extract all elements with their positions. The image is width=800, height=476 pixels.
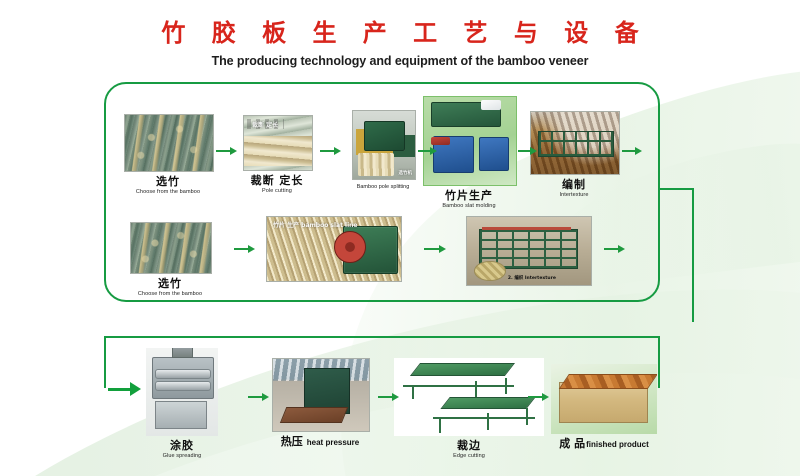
cutter-unit-1-leg-c [505, 378, 507, 394]
splitting-machine-image [353, 111, 415, 179]
step-label: 成 品finished product [551, 437, 657, 452]
step-finished-product[interactable]: 成 品finished product [551, 364, 657, 452]
step-bamboo-pole-splitting[interactable]: 选竹机 Bamboo pole splitting [352, 110, 414, 192]
thumbnail-heat-pressure [272, 358, 370, 432]
cutter-unit-2-leg-a [439, 417, 441, 433]
step-label-en: Choose from the bamboo [124, 188, 212, 196]
step-choose-bamboo-1[interactable]: 选竹 Choose from the bamboo [124, 114, 212, 196]
flow-arrow-9-entry [108, 382, 141, 396]
cutter-unit-2-table [440, 397, 535, 409]
step-label-en: Bamboo slat molding [423, 202, 515, 210]
step-label-cn: 编制 [530, 178, 618, 191]
step-label-en: Pole cutting [243, 187, 311, 195]
thumbnail-edge-cutting [394, 358, 544, 436]
flow-arrow-4 [518, 147, 537, 155]
step-label-cn: 成 品 [559, 437, 585, 450]
process-frame-lower-top [104, 336, 660, 338]
weaving-shed-image [531, 112, 619, 174]
step-choose-bamboo-2[interactable]: 选竹 Choose from the bamboo [130, 222, 210, 298]
flow-arrow-7 [424, 245, 446, 253]
step-label-en: Intertexture [530, 191, 618, 199]
machine-blue-right [479, 137, 509, 171]
step-label-en: Bamboo pole splitting [352, 183, 414, 192]
machine-red-feeder [431, 137, 449, 146]
thumbnail-watermark: 竹片 生产 bamboo slat line [273, 220, 358, 229]
machine-control-panel [481, 100, 501, 111]
step-label-cn: 裁边 [394, 439, 544, 452]
step-label-en: Glue spreading [146, 452, 218, 460]
poster-header: 竹 胶 板 生 产 工 艺 与 设 备 The producing techno… [0, 18, 800, 68]
step-label-cn: 竹片生产 [423, 189, 515, 202]
glue-roller-lower [155, 381, 212, 391]
flow-arrow-1 [216, 147, 237, 155]
flow-arrow-3 [418, 147, 437, 155]
board-top-face [559, 374, 657, 389]
cutter-unit-1-leg-a [412, 385, 414, 399]
page-title-chinese: 竹 胶 板 生 产 工 艺 与 设 备 [0, 18, 800, 48]
thumbnail-intertexture-2: 2. 编织 Intertexture [466, 216, 592, 286]
bamboo-poles-image [125, 115, 213, 171]
cutter-unit-2-leg-b [487, 413, 489, 430]
thumbnail-choose-bamboo-2 [130, 222, 212, 274]
thumbnail-watermark: 裁断 定长 [252, 120, 278, 129]
step-pole-cutting[interactable]: 裁断 定长 裁断 定长 Pole cutting [243, 115, 311, 195]
frame-connector-horizontal [659, 188, 694, 190]
step-label-cn: 选竹 [124, 175, 212, 188]
flow-arrow-2 [320, 147, 341, 155]
process-frame-lower-left [104, 336, 106, 388]
step-label-en: Edge cutting [394, 452, 544, 460]
step-bamboo-strip-production[interactable]: 竹片 生产 bamboo slat line [266, 216, 400, 282]
thumbnail-watermark: 2. 编织 Intertexture [508, 275, 556, 281]
edge-cutting-machines-image [394, 358, 544, 436]
step-label-en: heat pressure [303, 438, 359, 447]
cutter-unit-1-leg-b [475, 381, 477, 397]
step-label-cn: 涂胶 [146, 439, 218, 452]
cutter-unit-2-leg-c [526, 408, 528, 425]
machine-flywheel [334, 231, 366, 263]
thumbnail-bamboo-slat-molding [423, 96, 517, 186]
flow-arrow-10 [248, 393, 269, 401]
glue-spreader-image [146, 348, 218, 436]
thumbnail-choose-bamboo-1 [124, 114, 214, 172]
flow-arrow-5 [622, 147, 642, 155]
glue-roller-upper [155, 369, 212, 379]
cutter-unit-2-rail [433, 417, 535, 419]
step-label: 热压heat pressure [272, 435, 368, 450]
step-label-cn: 裁断 定长 [243, 174, 311, 187]
finished-board-image [551, 364, 657, 434]
step-label-en: finished product [585, 440, 649, 449]
flow-arrow-12 [528, 393, 549, 401]
process-frame-lower-right [658, 336, 660, 388]
step-label-en: Choose from the bamboo [130, 290, 210, 298]
cutter-unit-1-table [410, 363, 515, 376]
pressed-board [279, 407, 347, 423]
glue-hopper [172, 348, 193, 358]
slat-molding-machines-image [424, 97, 516, 185]
step-intertexture-1[interactable]: 编制 Intertexture [530, 111, 618, 199]
thumbnail-bamboo-strip-production: 竹片 生产 bamboo slat line [266, 216, 402, 282]
thumbnail-glue-spreading [146, 348, 218, 436]
thumbnail-intertexture-1 [530, 111, 620, 175]
cutter-unit-1-rail [403, 385, 514, 387]
step-edge-cutting[interactable]: 裁边 Edge cutting [394, 358, 544, 460]
woven-mat-sample [474, 261, 506, 281]
thumbnail-finished-product [551, 364, 657, 434]
thumbnail-pole-cutting: 裁断 定长 [243, 115, 313, 171]
flow-arrow-8 [604, 245, 625, 253]
thumbnail-bamboo-pole-splitting: 选竹机 [352, 110, 416, 180]
step-glue-spreading[interactable]: 涂胶 Glue spreading [146, 348, 218, 460]
page-title-english: The producing technology and equipment o… [0, 54, 800, 68]
step-intertexture-2[interactable]: 2. 编织 Intertexture [466, 216, 590, 286]
step-label-cn: 选竹 [130, 277, 210, 290]
flow-arrow-11 [378, 393, 399, 401]
flow-arrow-6 [234, 245, 255, 253]
step-heat-pressure[interactable]: 热压heat pressure [272, 358, 368, 450]
step-label-cn: 热压 [281, 435, 303, 448]
bamboo-poles-image [131, 223, 211, 273]
thumbnail-watermark: 选竹机 [399, 170, 413, 176]
frame-connector-vertical [692, 188, 694, 322]
